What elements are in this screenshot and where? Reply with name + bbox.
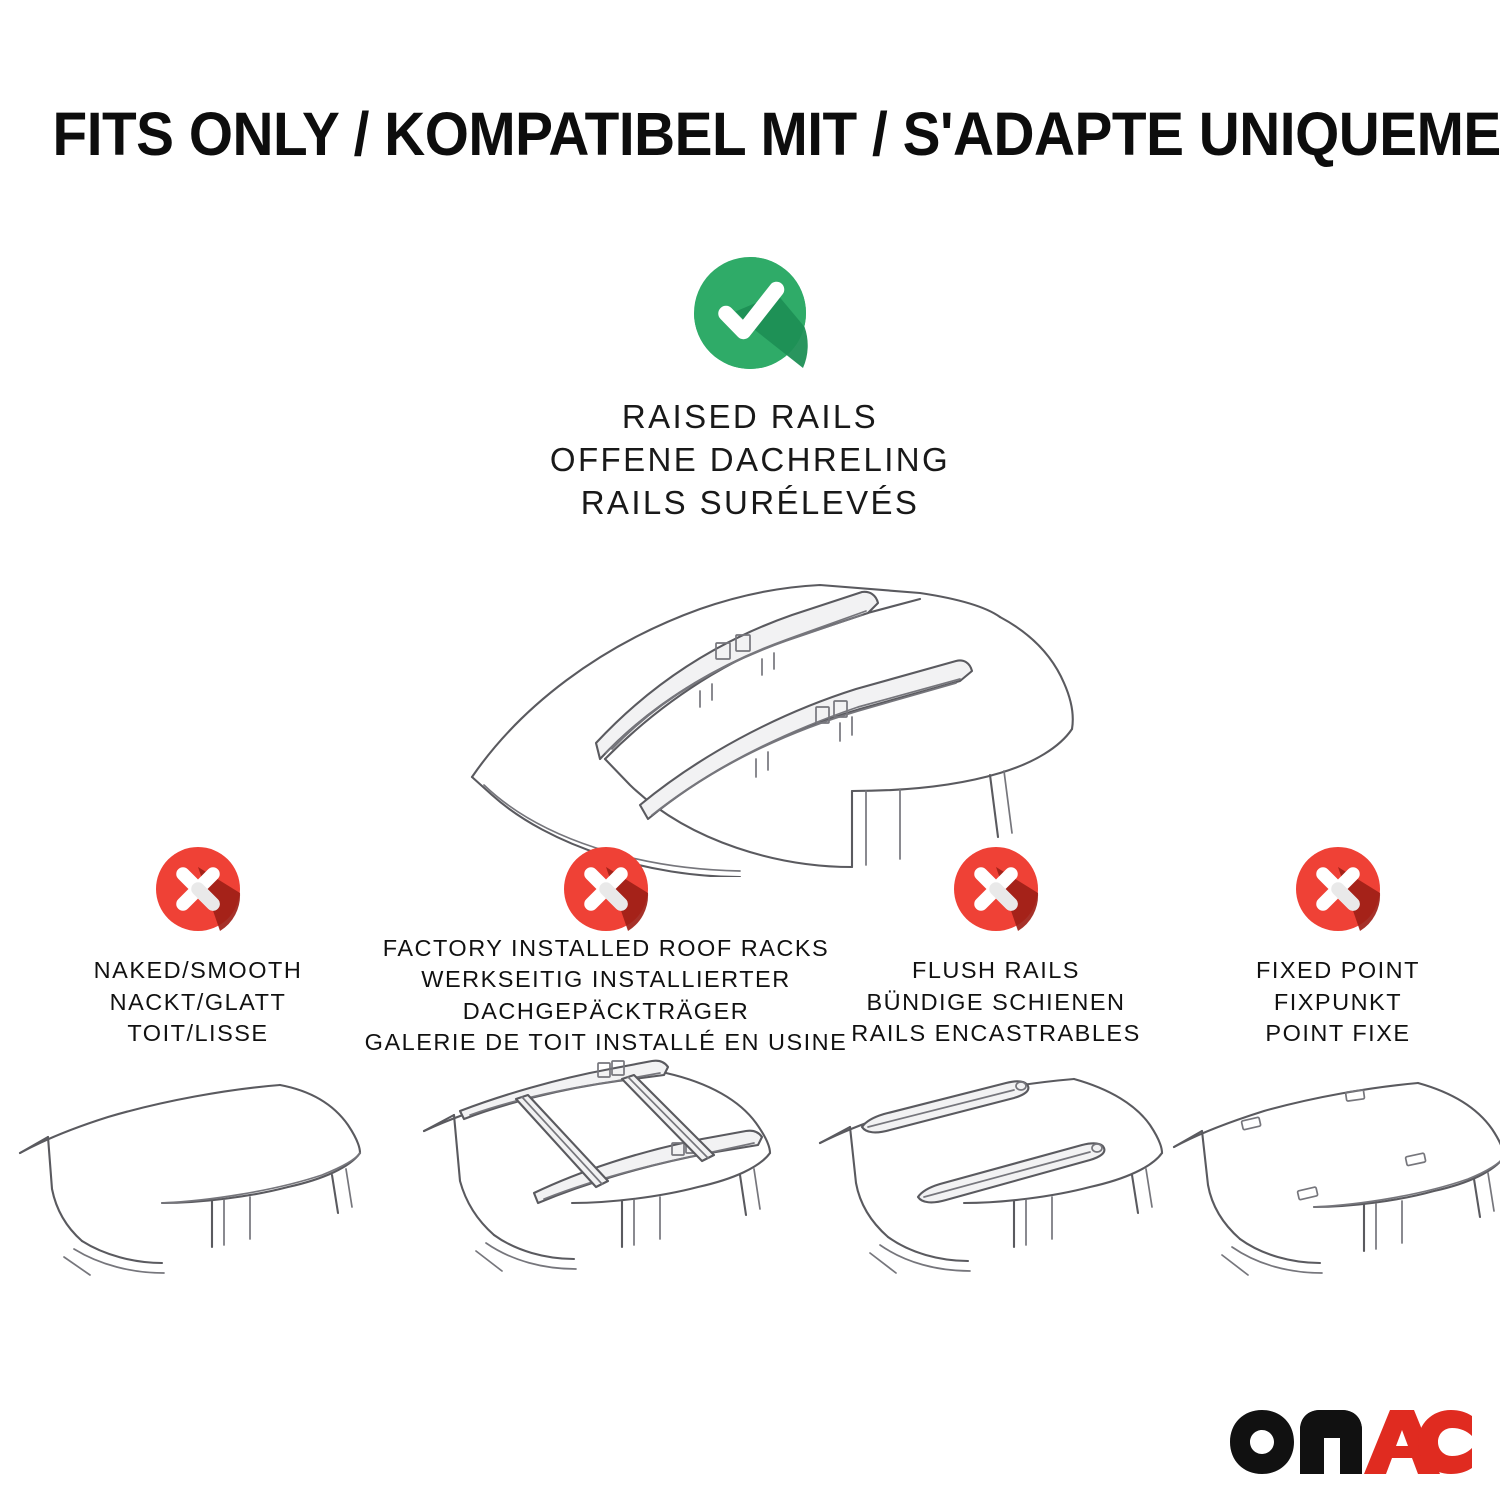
label-line-en: NAKED/SMOOTH — [94, 955, 303, 986]
logo-letter-o — [1230, 1410, 1294, 1474]
car-roof-fixed-point-illustration — [1168, 1057, 1500, 1289]
incompatible-labels-naked-smooth: NAKED/SMOOTH NACKT/GLATT TOIT/LISSE — [94, 955, 303, 1049]
label-line-de-2: DACHGEPÄCKTRÄGER — [365, 996, 848, 1027]
incompatible-item-factory-racks: FACTORY INSTALLED ROOF RACKS WERKSEITIG … — [396, 845, 816, 1289]
label-line-de-1: WERKSEITIG INSTALLIERTER — [365, 964, 848, 995]
compatible-label-de: OFFENE DACHRELING — [550, 439, 950, 482]
car-roof-naked-smooth-illustration — [12, 1057, 384, 1289]
car-roof-factory-installed-racks-illustration — [410, 1057, 802, 1289]
incompatible-labels-fixed-point: FIXED POINT FIXPUNKT POINT FIXE — [1256, 955, 1420, 1049]
incompatible-labels-factory-racks: FACTORY INSTALLED ROOF RACKS WERKSEITIG … — [365, 933, 848, 1058]
x-circle-icon — [1294, 845, 1382, 933]
page-header: FITS ONLY / KOMPATIBEL MIT / S'ADAPTE UN… — [0, 104, 1500, 165]
label-line-de: NACKT/GLATT — [94, 987, 303, 1018]
label-line-en: FACTORY INSTALLED ROOF RACKS — [365, 933, 848, 964]
label-line-fr: RAILS ENCASTRABLES — [851, 1018, 1141, 1049]
label-line-fr: GALERIE DE TOIT INSTALLÉ EN USINE — [365, 1027, 848, 1058]
x-circle-icon — [952, 845, 1040, 933]
incompatible-section: NAKED/SMOOTH NACKT/GLATT TOIT/LISSE — [0, 845, 1500, 1289]
label-line-fr: TOIT/LISSE — [94, 1018, 303, 1049]
page-title: FITS ONLY / KOMPATIBEL MIT / S'ADAPTE UN… — [53, 104, 1448, 165]
compatible-label-en: RAISED RAILS — [550, 396, 950, 439]
car-roof-with-raised-rails-illustration — [400, 547, 1100, 882]
incompatible-item-fixed-point: FIXED POINT FIXPUNKT POINT FIXE — [1176, 845, 1500, 1289]
label-line-en: FLUSH RAILS — [851, 955, 1141, 986]
incompatible-item-flush-rails: FLUSH RAILS BÜNDIGE SCHIENEN RAILS ENCAS… — [816, 845, 1176, 1289]
car-roof-flush-rails-illustration — [810, 1057, 1182, 1289]
compatible-label-fr: RAILS SURÉLEVÉS — [550, 482, 950, 525]
label-line-fr: POINT FIXE — [1256, 1018, 1420, 1049]
incompatible-labels-flush-rails: FLUSH RAILS BÜNDIGE SCHIENEN RAILS ENCAS… — [851, 955, 1141, 1049]
label-line-en: FIXED POINT — [1256, 955, 1420, 986]
x-circle-icon — [562, 845, 650, 933]
compatible-labels: RAISED RAILS OFFENE DACHRELING RAILS SUR… — [550, 396, 950, 525]
check-circle-icon — [691, 254, 809, 372]
incompatible-item-naked-smooth: NAKED/SMOOTH NACKT/GLATT TOIT/LISSE — [0, 845, 396, 1289]
compatible-section: RAISED RAILS OFFENE DACHRELING RAILS SUR… — [0, 254, 1500, 882]
label-line-de: FIXPUNKT — [1256, 987, 1420, 1018]
x-circle-icon — [154, 845, 242, 933]
label-line-de: BÜNDIGE SCHIENEN — [851, 987, 1141, 1018]
omac-logo — [1228, 1408, 1474, 1474]
